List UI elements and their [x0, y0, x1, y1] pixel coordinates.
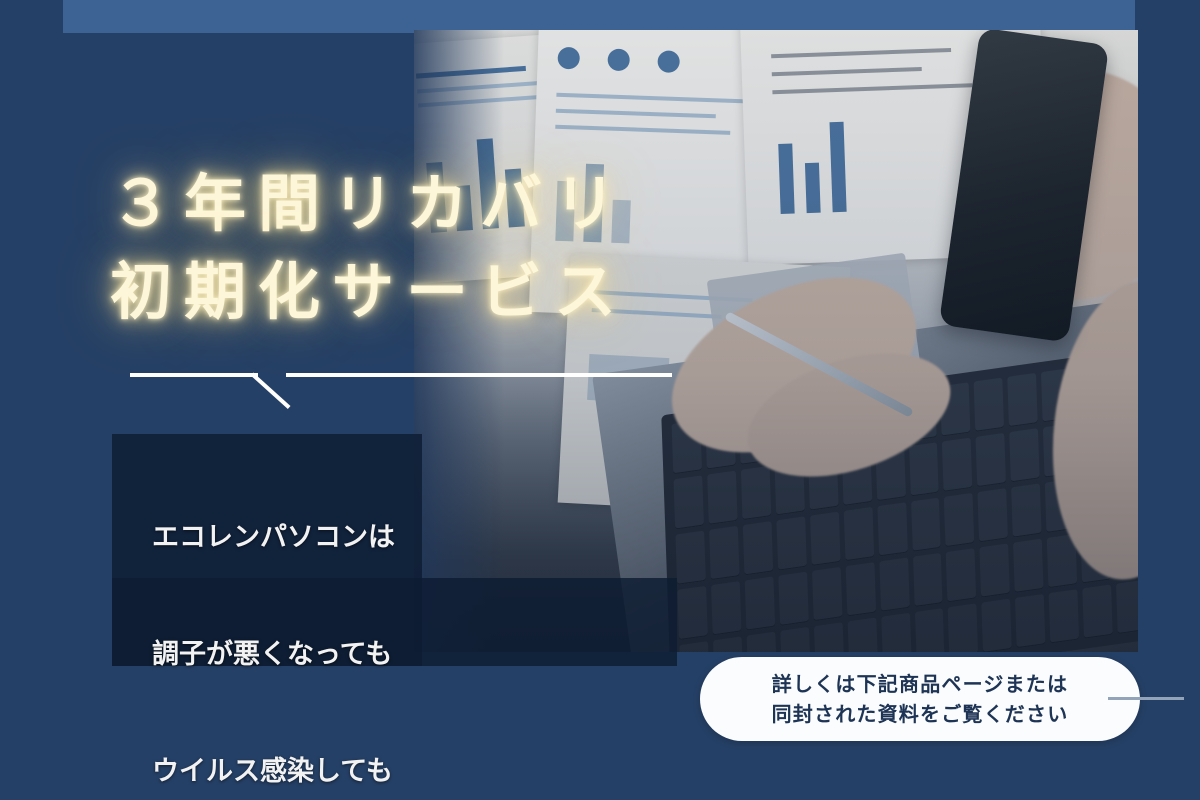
decor-line-right — [286, 373, 672, 377]
body-line-2: 調子が悪くなっても — [152, 635, 712, 674]
body-line-1: エコレンパソコンは — [152, 518, 712, 557]
callout-pill[interactable]: 詳しくは下記商品ページまたは 同封された資料をご覧ください — [700, 657, 1140, 741]
body-line-3: ウイルス感染しても — [152, 752, 712, 791]
promo-banner: ３年間リカバリ 初期化サービス エコレンパソコンは 調子が悪くなっても ウイルス… — [0, 0, 1200, 800]
callout-leader-line — [1108, 697, 1184, 700]
headline: ３年間リカバリ 初期化サービス — [110, 160, 870, 336]
callout-text: 詳しくは下記商品ページまたは 同封された資料をご覧ください — [772, 669, 1069, 729]
body-copy: エコレンパソコンは 調子が悪くなっても ウイルス感染しても 設定を狂わせてしまっ… — [152, 440, 712, 800]
decor-line-left — [130, 373, 258, 377]
top-accent-band — [63, 0, 1135, 33]
